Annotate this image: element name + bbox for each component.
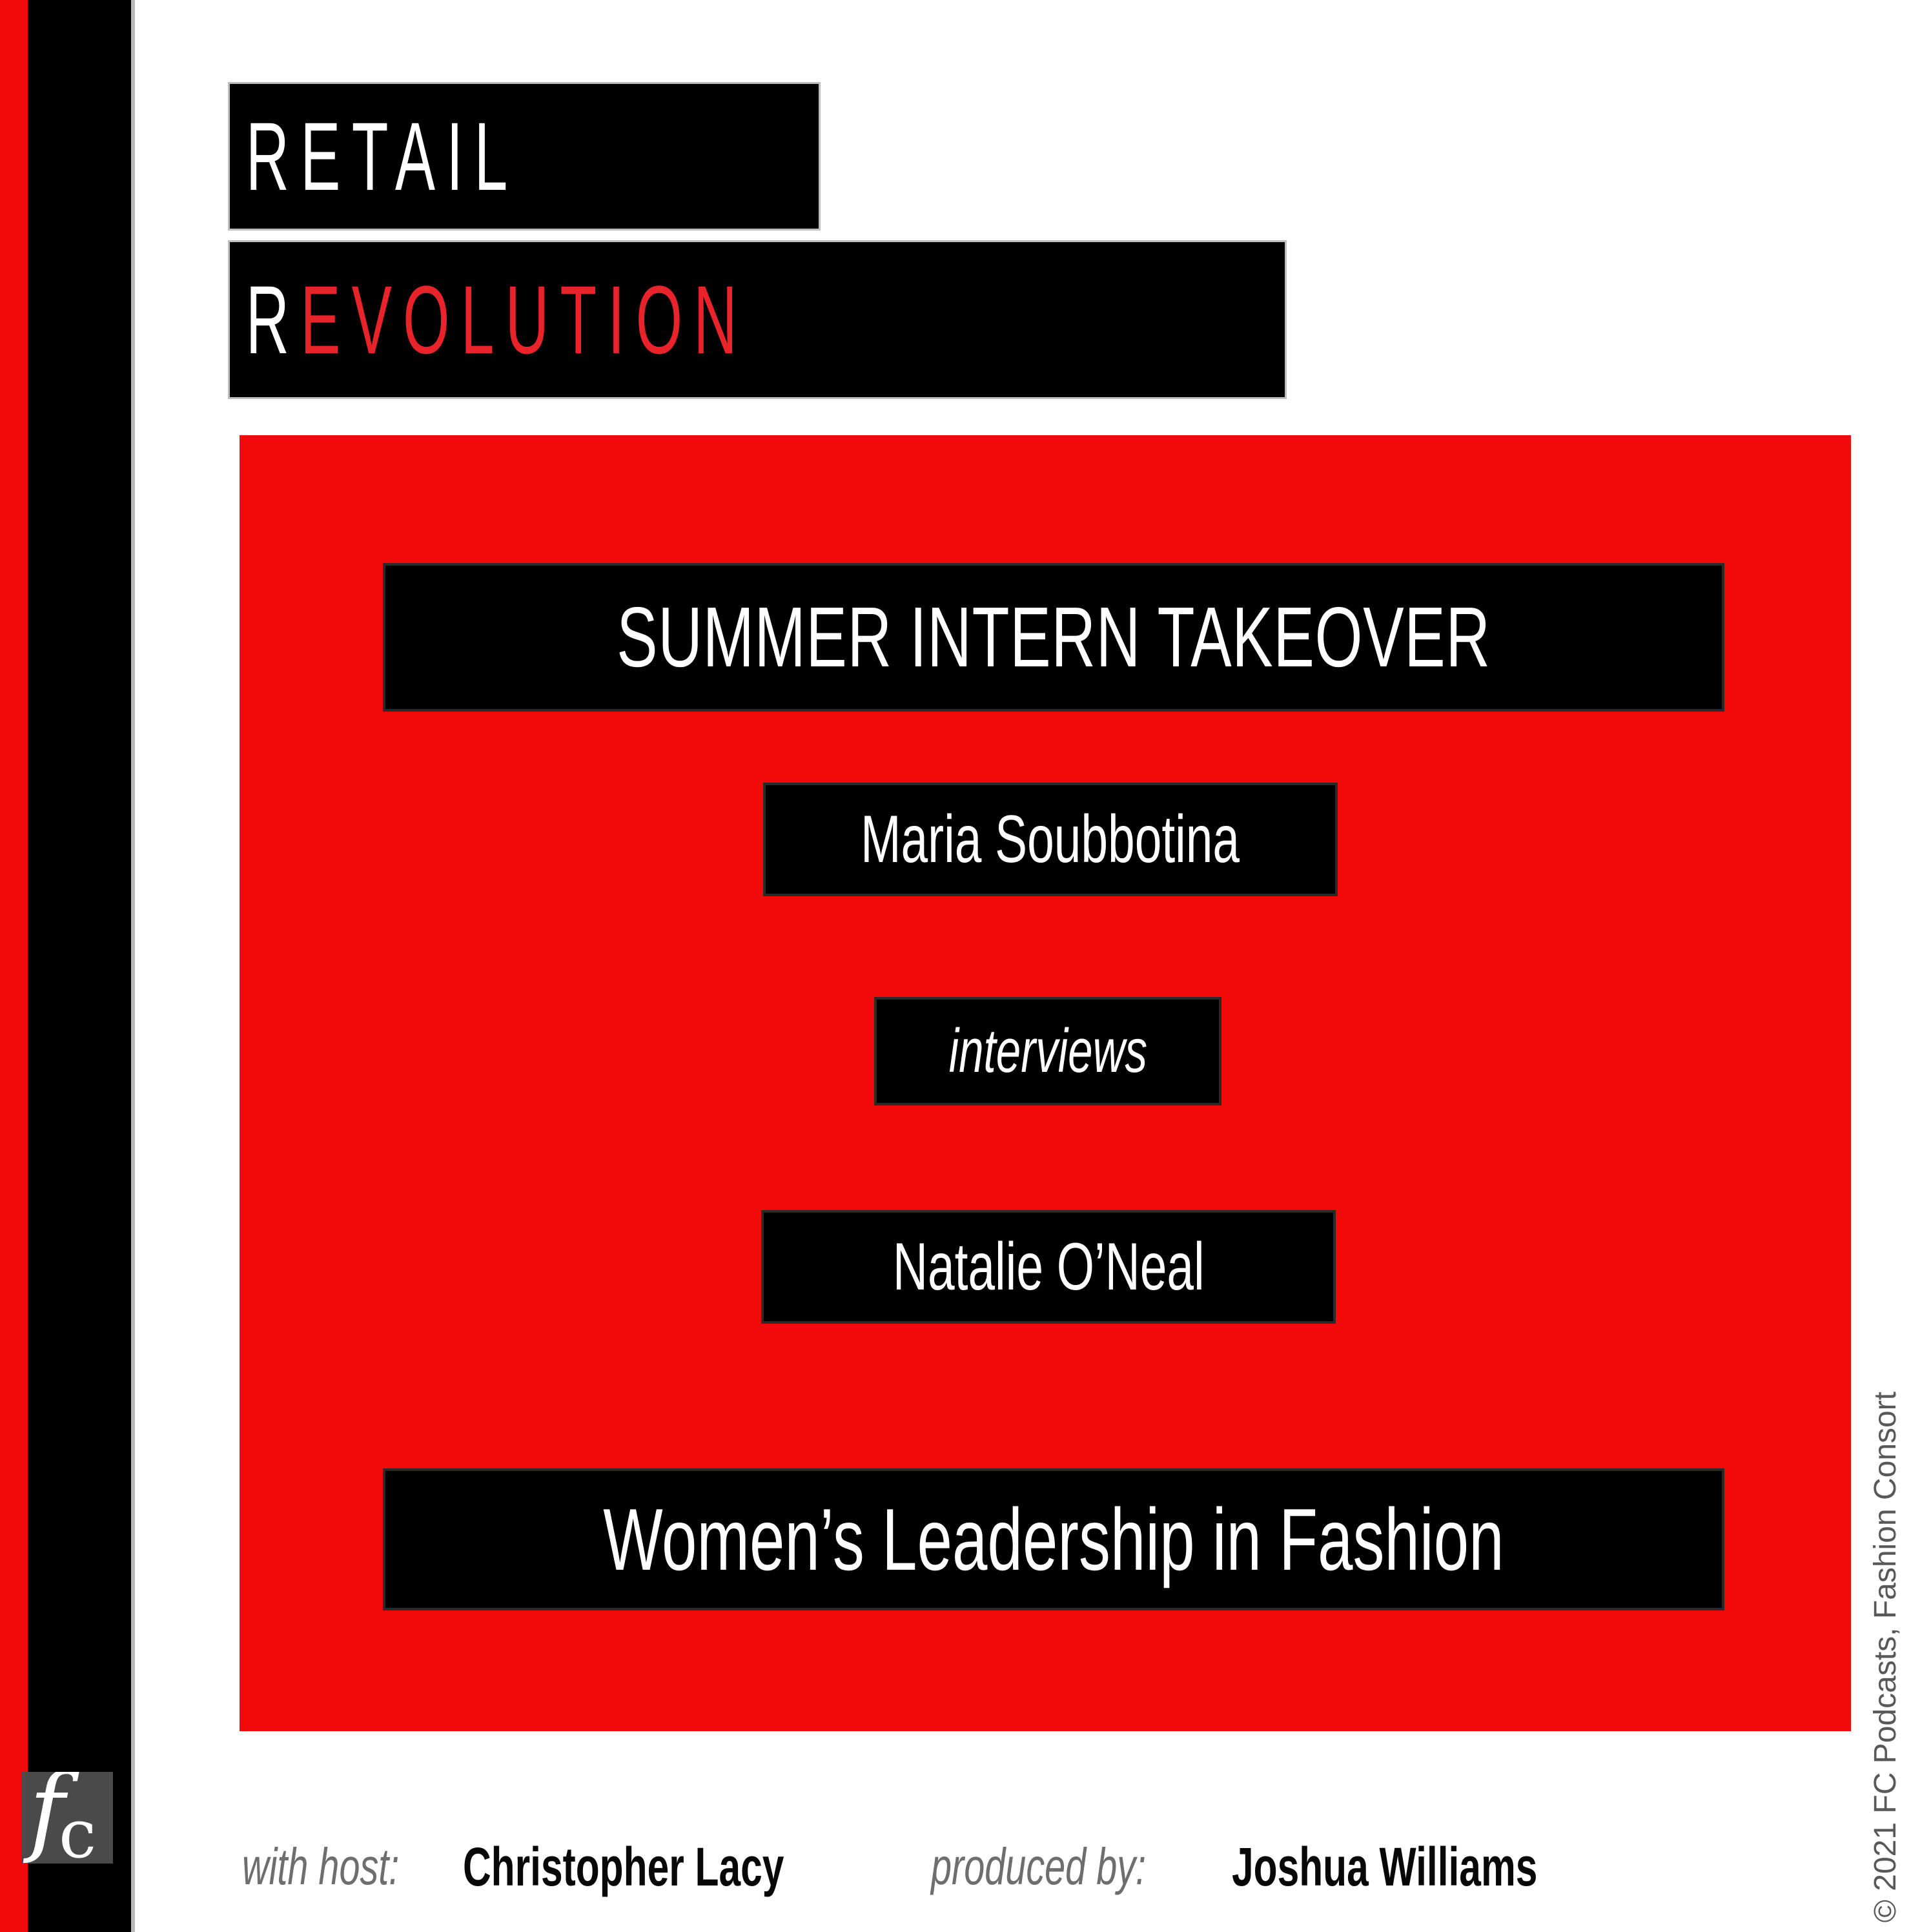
- episode-topic-bar: Women’s Leadership in Fashion: [385, 1471, 1722, 1608]
- copyright-notice: © 2021 FC Podcasts, Fashion Consort: [1868, 1392, 1903, 1922]
- interviewer-bar: Maria Soubbotina: [766, 785, 1335, 894]
- host-name: Christopher Lacy: [463, 1840, 784, 1894]
- guest-bar: Natalie O’Neal: [764, 1213, 1333, 1321]
- fc-logo-icon: f c: [21, 1772, 113, 1864]
- producer-label: produced by:: [931, 1841, 1146, 1893]
- left-stripe-edge: [131, 0, 135, 1932]
- show-title-revolution: REVOLUTION: [230, 271, 748, 368]
- connector-bar: interviews: [877, 1000, 1219, 1103]
- show-title-revolution-prefix: R: [246, 265, 301, 374]
- left-red-stripe: [0, 0, 28, 1932]
- show-title-retail: RETAIL: [230, 108, 519, 205]
- show-title-revolution-rest: EVOLUTION: [300, 265, 748, 374]
- connector-text: interviews: [948, 1020, 1147, 1082]
- show-title-line2-box: REVOLUTION: [230, 242, 1285, 397]
- podcast-cover-art: f c RETAIL REVOLUTION SUMMER INTERN TAKE…: [0, 0, 1931, 1932]
- series-label-text: SUMMER INTERN TAKEOVER: [617, 595, 1491, 680]
- credits-line: with host: Christopher Lacy produced by:…: [242, 1831, 1657, 1902]
- show-title-line1-box: RETAIL: [230, 84, 819, 229]
- logo-letter-c: c: [59, 1800, 96, 1864]
- producer-name: Joshua Williams: [1232, 1840, 1537, 1894]
- left-black-stripe: [28, 0, 131, 1932]
- guest-name: Natalie O’Neal: [893, 1233, 1205, 1300]
- host-label: with host:: [242, 1841, 399, 1893]
- series-label-bar: SUMMER INTERN TAKEOVER: [385, 566, 1722, 709]
- episode-topic-text: Women’s Leadership in Fashion: [603, 1495, 1504, 1583]
- interviewer-name: Maria Soubbotina: [861, 806, 1240, 873]
